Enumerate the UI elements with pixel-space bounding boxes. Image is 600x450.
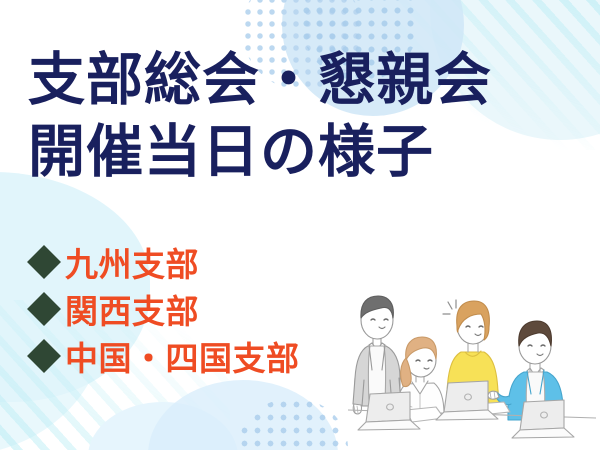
list-item: 九州支部 <box>32 238 300 285</box>
branch-label: 九州支部 <box>65 238 199 286</box>
sparkle-icon <box>443 300 456 314</box>
title-line-1: 支部総会・懇親会 <box>28 44 492 116</box>
title-line-2: 開催当日の様子 <box>28 116 492 188</box>
poster-title: 支部総会・懇親会 開催当日の様子 <box>28 44 492 188</box>
branch-list: 九州支部 関西支部 中国・四国支部 <box>32 238 300 379</box>
dot-pattern-bottom <box>238 398 348 450</box>
poster-canvas: 支部総会・懇親会 開催当日の様子 九州支部 関西支部 中国・四国支部 <box>0 0 600 450</box>
meeting-people-illustration <box>348 280 596 448</box>
list-item: 関西支部 <box>32 285 300 332</box>
diamond-bullet-icon <box>27 292 61 326</box>
diamond-bullet-icon <box>27 339 61 373</box>
circle-blob-bottom-wash <box>88 402 238 450</box>
list-item: 中国・四国支部 <box>32 332 300 379</box>
circle-blob-bottom <box>148 380 338 450</box>
branch-label: 関西支部 <box>65 285 199 333</box>
diamond-bullet-icon <box>27 245 61 279</box>
branch-label: 中国・四国支部 <box>65 332 300 380</box>
